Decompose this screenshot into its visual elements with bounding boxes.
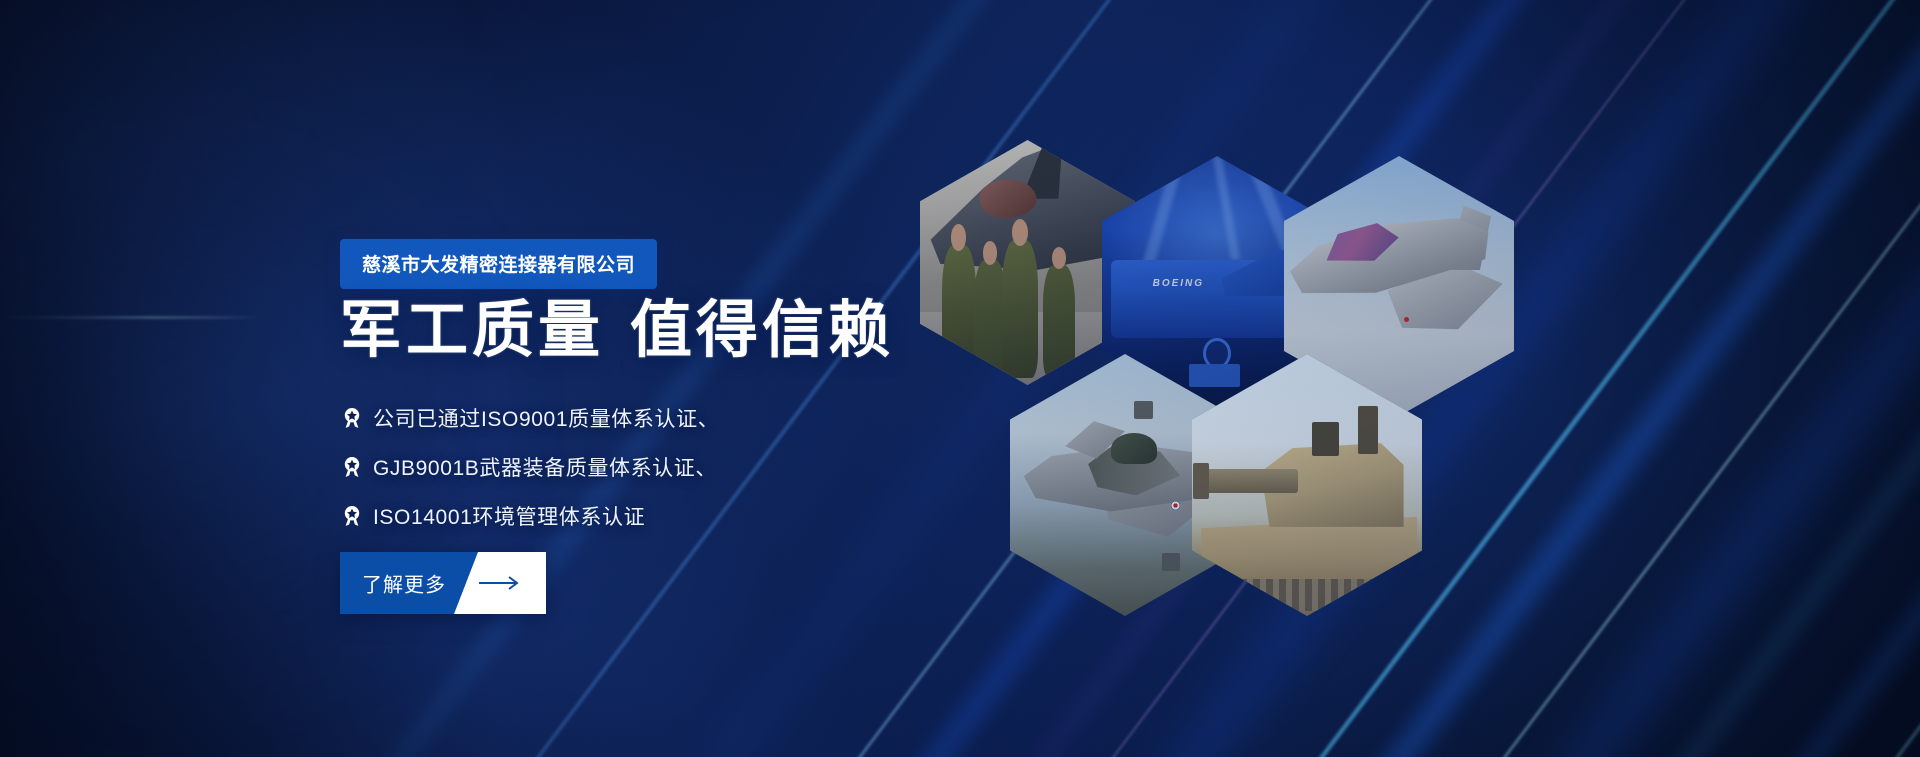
cta-label: 了解更多 (362, 569, 446, 598)
certification-item: GJB9001B武器装备质量体系认证、 (342, 452, 719, 482)
medal-icon (342, 407, 362, 429)
learn-more-button[interactable]: 了解更多 (340, 552, 546, 614)
company-name-badge: 慈溪市大发精密连接器有限公司 (340, 239, 657, 289)
certification-label: GJB9001B武器装备质量体系认证、 (373, 452, 717, 482)
medal-icon (342, 505, 362, 527)
certification-item: 公司已通过ISO9001质量体系认证、 (342, 403, 719, 433)
light-ray (1620, 0, 1920, 757)
page-title: 军工质量值得信赖 (340, 297, 894, 365)
medal-icon (342, 456, 362, 478)
hero-banner: BOEING (0, 0, 1920, 757)
certification-label: 公司已通过ISO9001质量体系认证、 (373, 403, 719, 433)
certification-item: ISO14001环境管理体系认证 (342, 501, 719, 531)
certification-label: ISO14001环境管理体系认证 (373, 501, 645, 531)
arrow-right-icon (478, 575, 524, 591)
headline-part-1: 军工质量 (340, 296, 604, 365)
light-ray (1525, 0, 1920, 757)
headline-part-2: 值得信赖 (630, 296, 894, 365)
hero-content: 慈溪市大发精密连接器有限公司 军工质量值得信赖 公司已通过ISO9001质量体系… (340, 0, 1060, 757)
horizontal-light-streak (0, 316, 262, 319)
certification-list: 公司已通过ISO9001质量体系认证、GJB9001B武器装备质量体系认证、IS… (342, 403, 719, 531)
